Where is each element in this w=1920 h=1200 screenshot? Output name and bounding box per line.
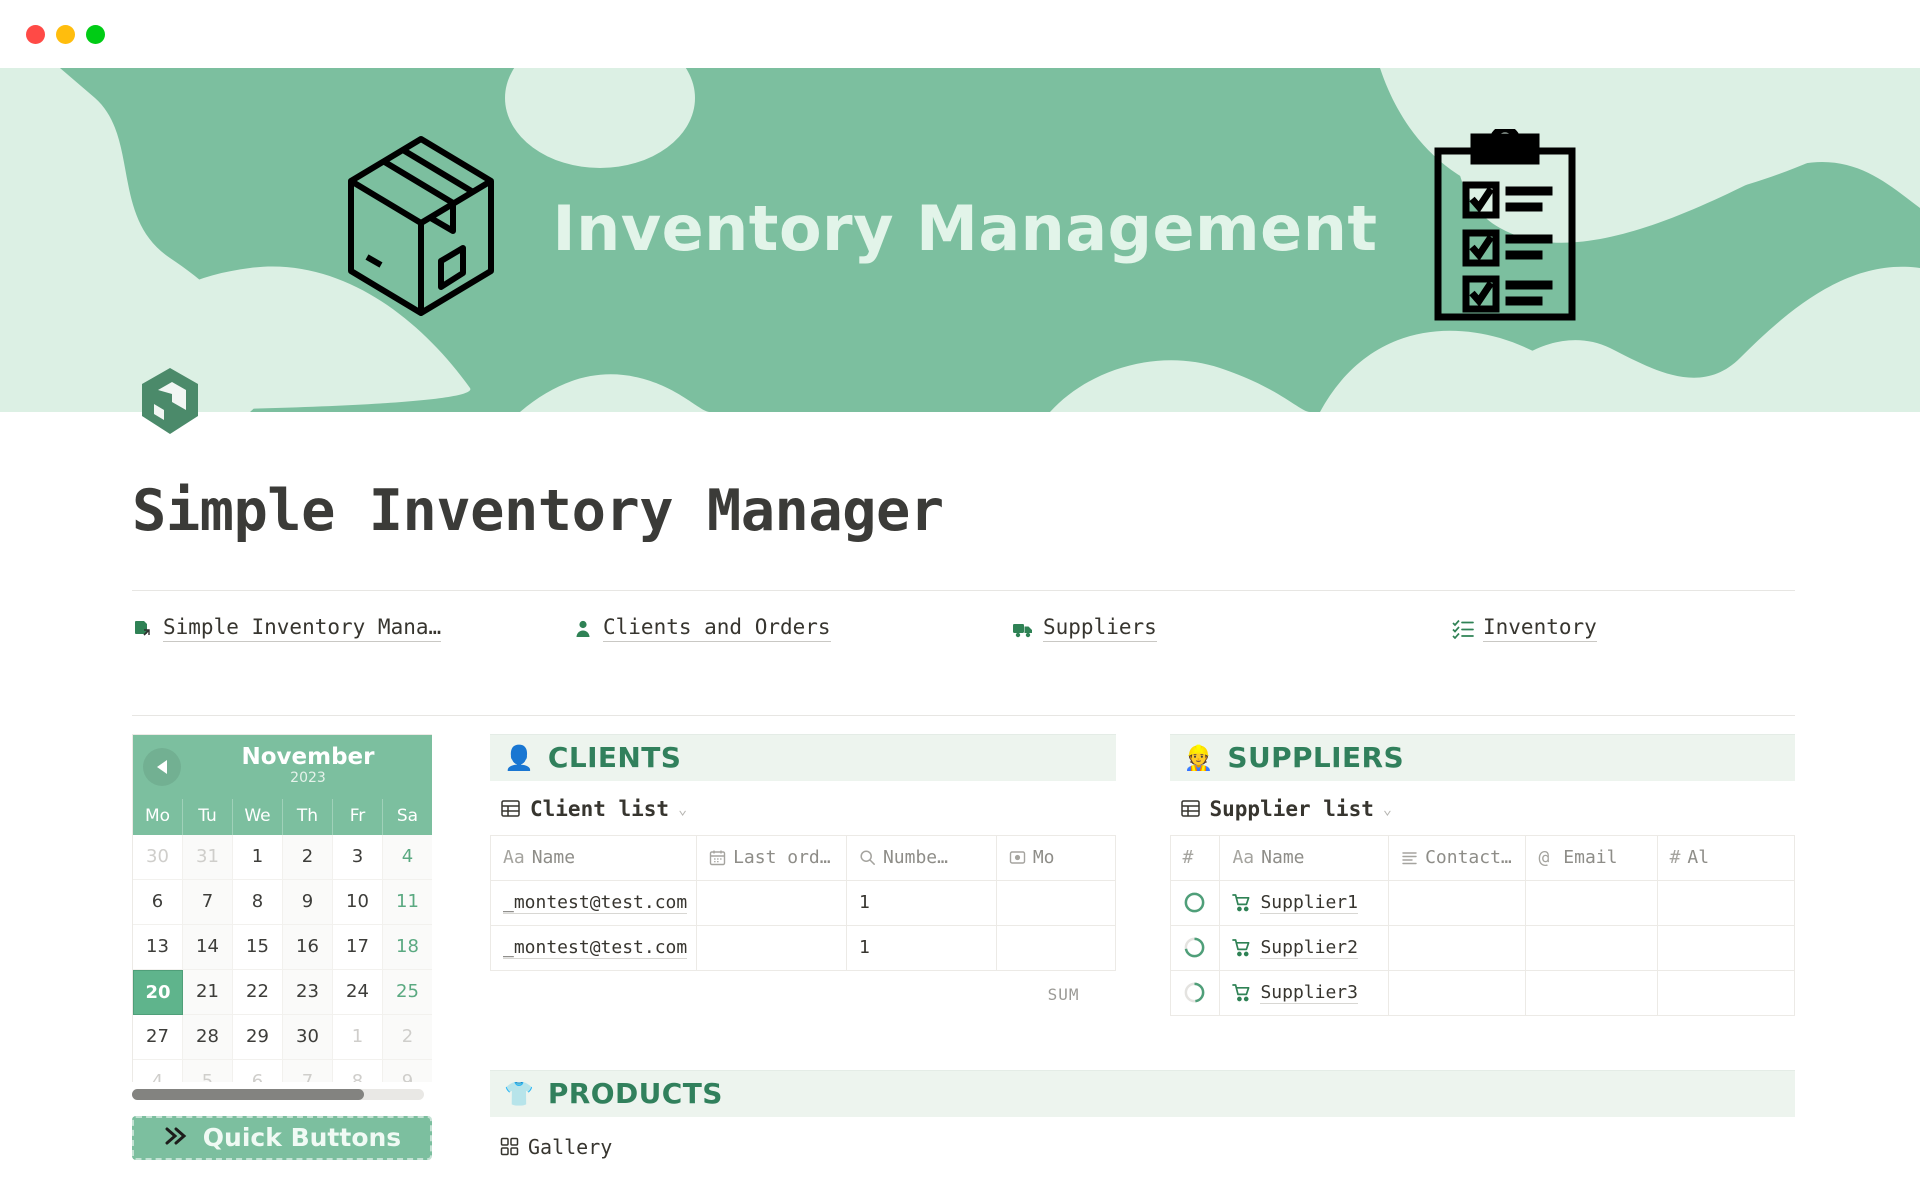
calendar-day-cell[interactable]: 24 xyxy=(333,970,383,1015)
supplier-name-cell[interactable]: Supplier2 xyxy=(1220,925,1389,970)
clients-col-number[interactable]: Numbe… xyxy=(846,835,996,880)
client-list-label: Client list xyxy=(530,797,669,821)
quick-buttons-label: Quick Buttons xyxy=(203,1123,401,1152)
chevron-down-icon[interactable]: ⌄ xyxy=(678,800,687,818)
calendar-day-cell[interactable]: 10 xyxy=(333,880,383,925)
cover-title: Inventory Management xyxy=(553,192,1378,265)
left-column: November 2023 MoTuWeThFrSaSu 30311234567… xyxy=(132,734,432,1160)
title-type-icon: Aa xyxy=(503,847,525,868)
nav-link-label: Suppliers xyxy=(1043,615,1157,642)
calendar-day-cell[interactable]: 29 xyxy=(233,1015,283,1060)
supplier-progress-cell[interactable] xyxy=(1170,970,1220,1015)
calendar-day-cell[interactable]: 8 xyxy=(333,1060,383,1082)
suppliers-col-contact[interactable]: Contact… xyxy=(1389,835,1526,880)
calendar-day-cell[interactable]: 8 xyxy=(233,880,283,925)
construction-worker-emoji: 👷 xyxy=(1184,746,1214,770)
clients-col-last-order[interactable]: Last ord… xyxy=(697,835,847,880)
products-gallery-label: Gallery xyxy=(528,1135,612,1159)
supplier-email-cell[interactable] xyxy=(1526,880,1657,925)
suppliers-col-al[interactable]: #Al xyxy=(1657,835,1794,880)
truck-icon xyxy=(1012,618,1034,640)
calendar-day-cell[interactable]: 25 xyxy=(383,970,432,1015)
right-column: 👤 CLIENTS Client list ⌄ xyxy=(432,734,1795,1160)
calendar-weekday-fr: Fr xyxy=(333,799,383,835)
table-icon xyxy=(1180,798,1201,819)
calendar-day-cell[interactable]: 14 xyxy=(183,925,233,970)
supplier-email-cell[interactable] xyxy=(1526,970,1657,1015)
page-cover: Inventory Management xyxy=(0,68,1920,412)
calendar-day-cell[interactable]: 22 xyxy=(233,970,283,1015)
calendar-day-cell[interactable]: 17 xyxy=(333,925,383,970)
calendar-day-cell[interactable]: 3 xyxy=(333,835,383,880)
calendar-day-grid[interactable]: 3031123456789101112131415161718192021222… xyxy=(133,835,432,1082)
clients-section-header: 👤 CLIENTS xyxy=(490,734,1116,781)
page-links-row: Simple Inventory Mana… Clients and Order… xyxy=(132,591,1795,667)
calendar-day-cell[interactable]: 9 xyxy=(283,880,333,925)
calendar-month-label: November xyxy=(143,745,432,769)
calendar-widget[interactable]: November 2023 MoTuWeThFrSaSu 30311234567… xyxy=(132,734,432,1082)
supplier-list-label: Supplier list xyxy=(1210,797,1374,821)
client-list-view-selector[interactable]: Client list ⌄ xyxy=(490,781,1116,835)
title-type-icon: Aa xyxy=(1232,847,1254,868)
products-heading: PRODUCTS xyxy=(548,1077,723,1110)
suppliers-section-header: 👷 SUPPLIERS xyxy=(1170,734,1796,781)
bust-in-silhouette-emoji: 👤 xyxy=(504,746,534,770)
maximize-window-button[interactable] xyxy=(86,25,105,44)
calendar-day-cell[interactable]: 7 xyxy=(183,880,233,925)
clients-col-money[interactable]: Mo xyxy=(996,835,1115,880)
shopping-cart-icon xyxy=(1232,983,1251,1002)
calendar-day-cell[interactable]: 28 xyxy=(183,1015,233,1060)
client-last-order-cell[interactable] xyxy=(697,925,847,970)
products-gallery-view-selector[interactable]: Gallery xyxy=(490,1117,1795,1159)
calendar-day-cell[interactable]: 30 xyxy=(283,1015,333,1060)
clients-table[interactable]: AaName Last ord… Numbe… Mo xyxy=(490,835,1116,971)
nav-link-label: Inventory xyxy=(1483,615,1597,642)
client-name-link[interactable]: _montest@test.com xyxy=(503,937,687,959)
table-row[interactable]: Supplier2 xyxy=(1170,925,1795,970)
main-content: November 2023 MoTuWeThFrSaSu 30311234567… xyxy=(132,734,1795,1160)
client-money-cell[interactable] xyxy=(996,880,1115,925)
gallery-grid-icon xyxy=(500,1137,519,1156)
nav-link-suppliers[interactable]: Suppliers xyxy=(1012,615,1452,642)
clients-sum-footer[interactable]: SUM xyxy=(490,971,1116,1004)
supplier-list-view-selector[interactable]: Supplier list ⌄ xyxy=(1170,781,1796,835)
nav-link-label: Simple Inventory Mana… xyxy=(163,615,441,642)
suppliers-col-index[interactable]: # xyxy=(1170,835,1220,880)
calendar-day-cell[interactable]: 15 xyxy=(233,925,283,970)
quick-buttons-banner[interactable]: Quick Buttons xyxy=(132,1116,432,1160)
rollup-type-icon xyxy=(859,849,876,866)
shopping-cart-icon xyxy=(1232,893,1251,912)
links-divider xyxy=(132,715,1795,716)
calendar-day-cell[interactable]: 11 xyxy=(383,880,432,925)
calendar-type-icon xyxy=(709,849,726,866)
nav-link-label: Clients and Orders xyxy=(603,615,831,642)
client-name-link[interactable]: _montest@test.com xyxy=(503,892,687,914)
table-row[interactable]: _montest@test.com1 xyxy=(491,880,1116,925)
supplier-progress-cell[interactable] xyxy=(1170,925,1220,970)
supplier-al-cell[interactable] xyxy=(1657,970,1794,1015)
formula-type-icon xyxy=(1009,849,1026,866)
calendar-day-cell[interactable]: 23 xyxy=(283,970,333,1015)
calendar-day-cell[interactable]: 6 xyxy=(133,880,183,925)
calendar-day-cell[interactable]: 20 xyxy=(133,970,183,1015)
email-type-icon: @ xyxy=(1538,847,1549,868)
supplier-name-link[interactable]: Supplier3 xyxy=(1260,982,1358,1004)
calendar-day-cell[interactable]: 1 xyxy=(233,835,283,880)
suppliers-table-header-row: # AaName Contact… @Email #Al xyxy=(1170,835,1795,880)
clipboard-checklist-icon xyxy=(1430,129,1580,328)
calendar-day-cell[interactable]: 6 xyxy=(233,1060,283,1082)
client-number-cell[interactable]: 1 xyxy=(846,925,996,970)
supplier-contact-cell[interactable] xyxy=(1389,925,1526,970)
suppliers-heading: SUPPLIERS xyxy=(1227,741,1404,774)
nav-link-inventory[interactable]: Inventory xyxy=(1452,615,1597,642)
supplier-contact-cell[interactable] xyxy=(1389,880,1526,925)
calendar-weekday-mo: Mo xyxy=(133,799,183,835)
close-window-button[interactable] xyxy=(26,25,45,44)
supplier-contact-cell[interactable] xyxy=(1389,970,1526,1015)
calendar-weekday-header: MoTuWeThFrSaSu xyxy=(133,799,432,835)
calendar-day-cell[interactable]: 21 xyxy=(183,970,233,1015)
calendar-day-cell[interactable]: 4 xyxy=(133,1060,183,1082)
page-title: Simple Inventory Manager xyxy=(132,482,1795,542)
products-section-header: 👕 PRODUCTS xyxy=(490,1070,1795,1117)
supplier-al-cell[interactable] xyxy=(1657,880,1794,925)
minimize-window-button[interactable] xyxy=(56,25,75,44)
calendar-weekday-th: Th xyxy=(283,799,333,835)
suppliers-col-email[interactable]: @Email xyxy=(1526,835,1657,880)
calendar-day-cell[interactable]: 2 xyxy=(383,1015,432,1060)
supplier-name-link[interactable]: Supplier1 xyxy=(1260,892,1358,914)
calendar-weekday-we: We xyxy=(233,799,283,835)
clients-section: 👤 CLIENTS Client list ⌄ xyxy=(490,734,1116,1016)
client-money-cell[interactable] xyxy=(996,925,1115,970)
page-link-icon xyxy=(132,618,154,640)
supplier-name-cell[interactable]: Supplier3 xyxy=(1220,970,1389,1015)
calendar-day-cell[interactable]: 9 xyxy=(383,1060,432,1082)
client-name-cell[interactable]: _montest@test.com xyxy=(491,925,697,970)
supplier-al-cell[interactable] xyxy=(1657,925,1794,970)
window-traffic-lights xyxy=(26,25,105,44)
suppliers-col-name[interactable]: AaName xyxy=(1220,835,1389,880)
calendar-horizontal-scrollbar[interactable] xyxy=(132,1089,424,1100)
table-row[interactable]: Supplier3 xyxy=(1170,970,1795,1015)
shopping-cart-icon xyxy=(1232,938,1251,957)
nav-link-clients-and-orders[interactable]: Clients and Orders xyxy=(572,615,1012,642)
supplier-email-cell[interactable] xyxy=(1526,925,1657,970)
calendar-weekday-tu: Tu xyxy=(183,799,233,835)
sections-row: 👤 CLIENTS Client list ⌄ xyxy=(490,734,1795,1016)
calendar-day-cell[interactable]: 5 xyxy=(183,1060,233,1082)
client-number-cell[interactable]: 1 xyxy=(846,880,996,925)
suppliers-section: 👷 SUPPLIERS Supplier list ⌄ xyxy=(1170,734,1796,1016)
clients-table-header-row: AaName Last ord… Numbe… Mo xyxy=(491,835,1116,880)
page-icon[interactable] xyxy=(132,364,208,440)
supplier-progress-cell[interactable] xyxy=(1170,880,1220,925)
calendar-weekday-sa: Sa xyxy=(383,799,432,835)
calendar-day-cell[interactable]: 4 xyxy=(383,835,432,880)
window-titlebar xyxy=(0,0,1920,68)
calendar-day-cell[interactable]: 1 xyxy=(333,1015,383,1060)
calendar-day-cell[interactable]: 31 xyxy=(183,835,233,880)
person-icon xyxy=(572,618,594,640)
calendar-day-cell[interactable]: 7 xyxy=(283,1060,333,1082)
calendar-day-cell[interactable]: 27 xyxy=(133,1015,183,1060)
calendar-year-label: 2023 xyxy=(143,769,432,789)
products-section: 👕 PRODUCTS Gallery xyxy=(490,1070,1795,1159)
calendar-header: November 2023 xyxy=(133,735,432,799)
clients-heading: CLIENTS xyxy=(548,741,681,774)
calendar-day-cell[interactable]: 13 xyxy=(133,925,183,970)
calendar-day-cell[interactable]: 18 xyxy=(383,925,432,970)
package-box-icon xyxy=(341,131,501,325)
text-type-icon xyxy=(1401,849,1418,866)
progress-ring-icon xyxy=(1183,981,1206,1004)
tshirt-emoji: 👕 xyxy=(504,1082,534,1106)
number-type-icon: # xyxy=(1670,847,1681,868)
client-last-order-cell[interactable] xyxy=(697,880,847,925)
calendar-day-cell[interactable]: 30 xyxy=(133,835,183,880)
calendar-day-cell[interactable]: 16 xyxy=(283,925,333,970)
calendar-day-cell[interactable]: 2 xyxy=(283,835,333,880)
suppliers-table[interactable]: # AaName Contact… @Email #Al Supplier1Su… xyxy=(1170,835,1796,1016)
double-chevron-icon xyxy=(163,1125,189,1151)
progress-ring-icon xyxy=(1183,936,1206,959)
clients-col-name[interactable]: AaName xyxy=(491,835,697,880)
sum-label: SUM xyxy=(1048,985,1080,1004)
nav-link-simple-inventory-manager[interactable]: Simple Inventory Mana… xyxy=(132,615,572,642)
cube-logo-icon xyxy=(132,364,208,440)
table-icon xyxy=(500,798,521,819)
checklist-icon xyxy=(1452,618,1474,640)
supplier-name-link[interactable]: Supplier2 xyxy=(1260,937,1358,959)
client-name-cell[interactable]: _montest@test.com xyxy=(491,880,697,925)
supplier-name-cell[interactable]: Supplier1 xyxy=(1220,880,1389,925)
number-type-icon: # xyxy=(1183,847,1194,868)
table-row[interactable]: Supplier1 xyxy=(1170,880,1795,925)
chevron-down-icon[interactable]: ⌄ xyxy=(1383,800,1392,818)
table-row[interactable]: _montest@test.com1 xyxy=(491,925,1116,970)
progress-ring-icon xyxy=(1183,891,1206,914)
